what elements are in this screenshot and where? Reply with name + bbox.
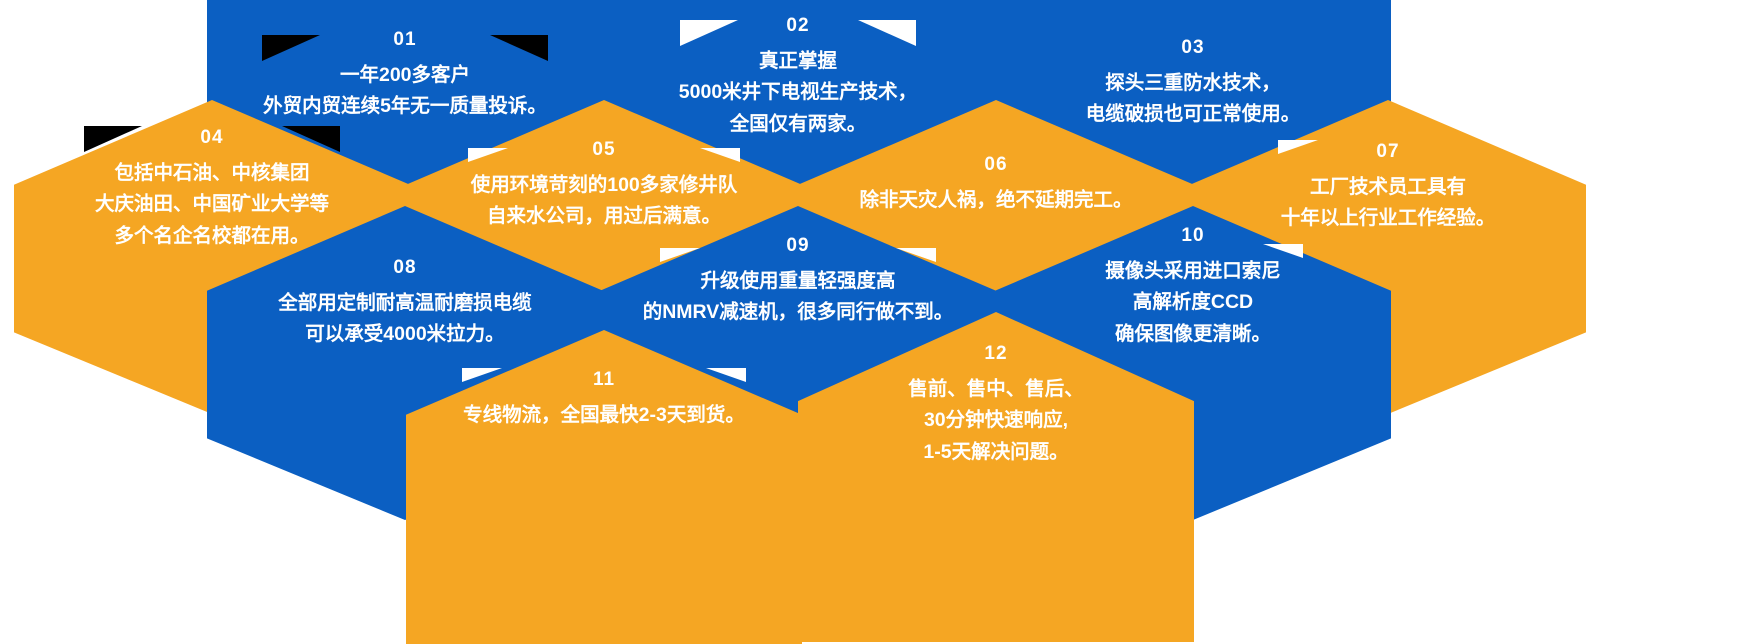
advantage-card-12[interactable]: 12 售前、售中、售后、 30分钟快速响应, 1-5天解决问题。 [798, 312, 1194, 642]
infographic-canvas: 01 一年200多客户 外贸内贸连续5年无一质量投诉。 02 真正掌握 5000… [0, 0, 1762, 571]
advantage-card-11[interactable]: 11 专线物流，全国最快2-3天到货。 [406, 330, 802, 644]
card-shape-12 [798, 312, 1194, 642]
